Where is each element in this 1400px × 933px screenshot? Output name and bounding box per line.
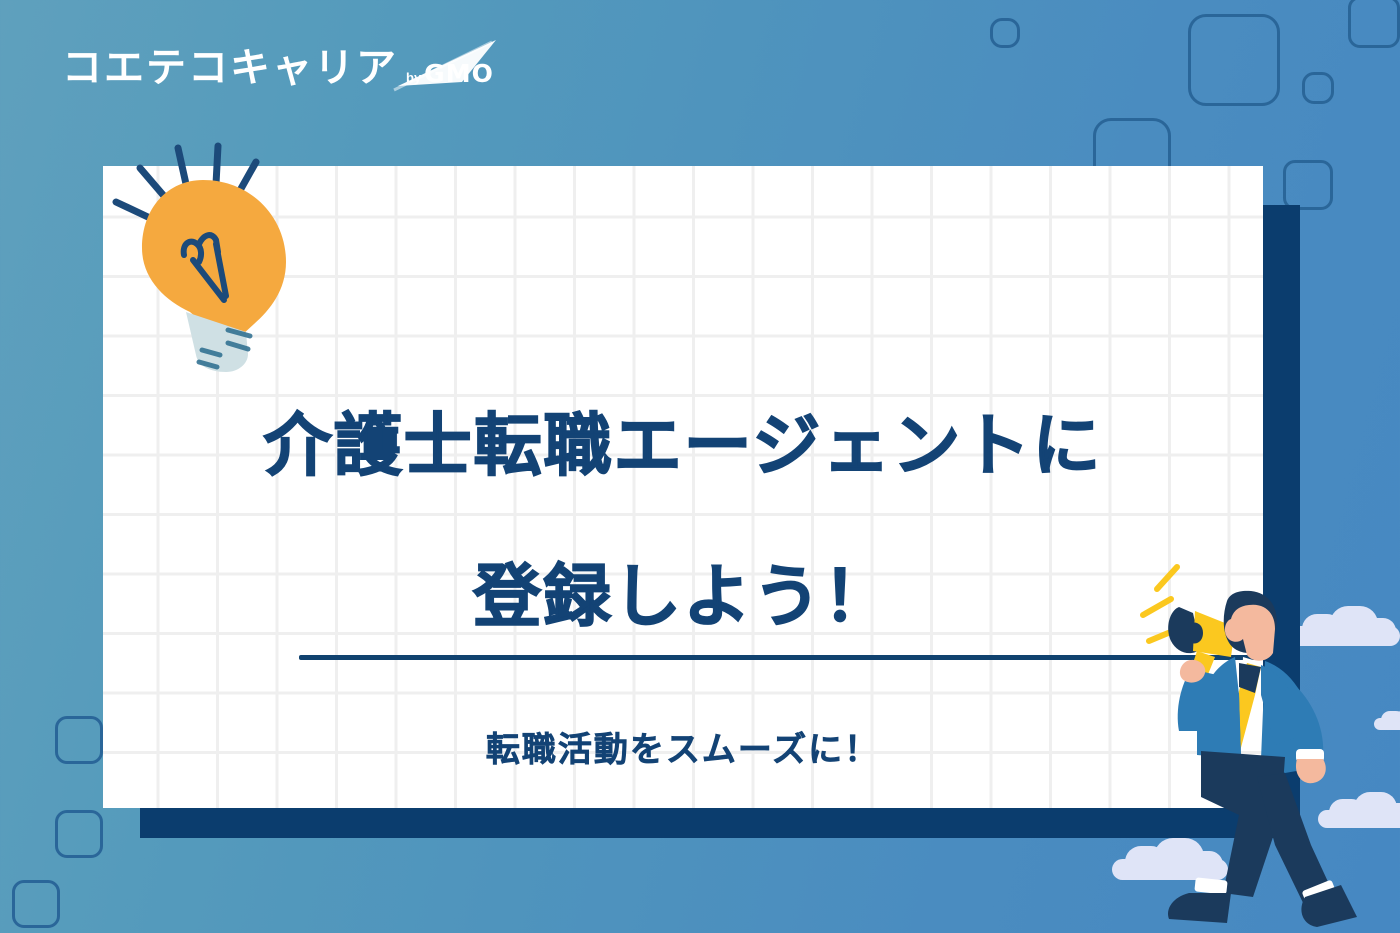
page-title-line1: 介護士転職エージェントに — [103, 413, 1263, 481]
brand-logo-gmo: GMO — [424, 59, 494, 88]
decorative-square-10 — [990, 18, 1020, 48]
title-divider — [299, 655, 1263, 660]
decorative-square-2 — [1302, 72, 1334, 104]
decorative-square-5 — [55, 716, 103, 764]
page-title-line2: 登録しよう！ — [103, 564, 1263, 632]
businessman-with-megaphone-icon — [1135, 545, 1400, 933]
page-subtitle: 転職活動をスムーズに！ — [103, 722, 1263, 771]
brand-logo[interactable]: コエテコキャリア by GMO — [62, 48, 494, 88]
decorative-square-7 — [55, 810, 103, 858]
decorative-square-0 — [1188, 14, 1280, 106]
brand-logo-text: コエテコキャリア — [62, 48, 398, 88]
decorative-square-1 — [1348, 0, 1400, 48]
decorative-square-8 — [12, 880, 60, 928]
brand-logo-by: by — [406, 70, 421, 85]
decorative-square-4 — [1283, 160, 1333, 210]
lightbulb-idea-icon — [98, 140, 308, 375]
